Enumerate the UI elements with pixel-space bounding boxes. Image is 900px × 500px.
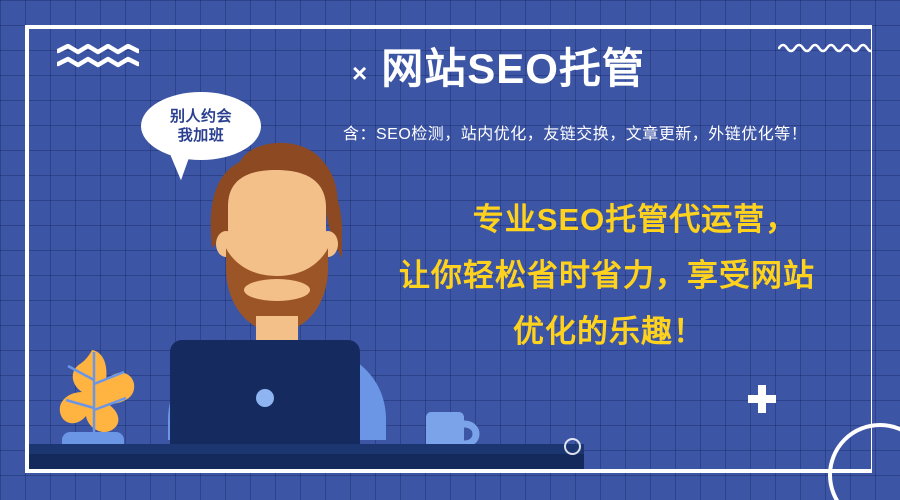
- speech-bubble: 别人约会 我加班: [141, 92, 261, 160]
- title-marker-icon: ×: [352, 60, 367, 86]
- corner-circle-decoration: [828, 423, 900, 500]
- page-title: 网站SEO托管: [381, 46, 645, 92]
- wave-decoration-right: [778, 40, 874, 56]
- title-row: × 网站SEO托管: [352, 46, 645, 92]
- speech-bubble-line-2: 我加班: [178, 126, 225, 145]
- subtitle: 含：SEO检测，站内优化，友链交换，文章更新，外链优化等！: [343, 120, 807, 144]
- plus-decoration: [748, 385, 776, 413]
- small-circle-decoration: [564, 438, 581, 455]
- speech-bubble-line-1: 别人约会: [170, 107, 232, 126]
- desk-plant: [60, 350, 134, 460]
- headline-line-2: 让你轻松省时省力，享受网站: [399, 248, 883, 304]
- headline-line-3: 优化的乐趣！: [405, 304, 883, 360]
- coffee-mug: [426, 412, 476, 458]
- headline-line-1: 专业SEO托管代运营，: [405, 192, 883, 248]
- desk: [28, 444, 584, 473]
- wave-decoration-left: [57, 44, 139, 70]
- person-figure: [168, 143, 386, 440]
- headline-block: 专业SEO托管代运营， 让你轻松省时省力，享受网站 优化的乐趣！: [405, 192, 883, 360]
- laptop: [170, 340, 360, 456]
- seo-hosting-banner: 别人约会 我加班 × 网站SEO托管 含：SEO检测，站内优化，友链交换，文章更…: [0, 0, 900, 500]
